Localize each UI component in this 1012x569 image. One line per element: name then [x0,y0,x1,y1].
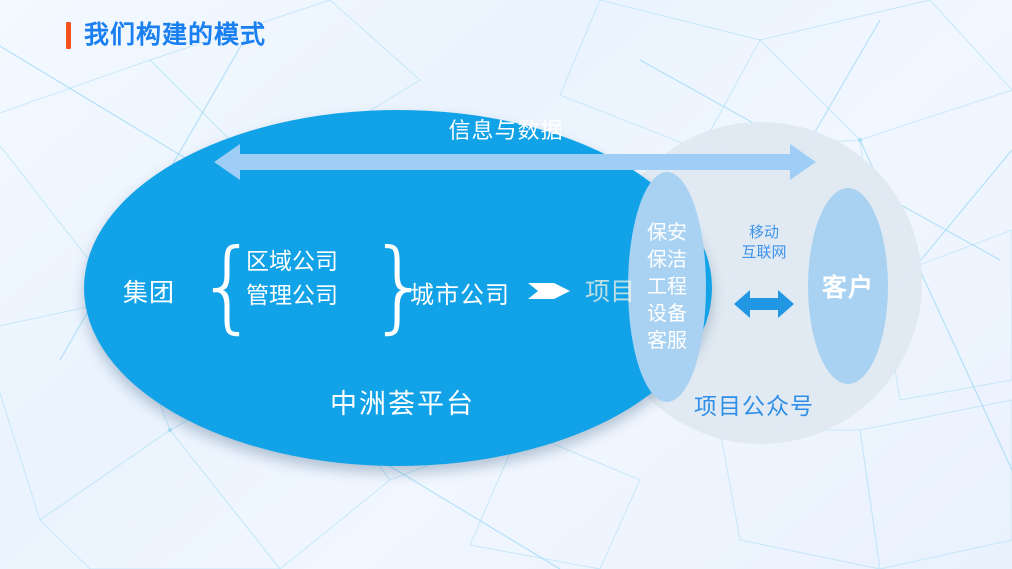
mobile-internet-double-arrow-icon [734,288,794,320]
title-text: 我们构建的模式 [84,23,266,48]
mobile-internet-label: 移动 互联网 [726,223,802,264]
customer-label: 客户 [822,268,874,304]
city-company-label: 城市公司 [410,275,510,310]
information-flow-arrow [214,143,816,181]
information-flow-label-wrap: 信息与数据 [0,113,1012,145]
service-item: 客服 [647,331,687,351]
service-item: 保安 [647,223,687,243]
information-flow-label: 信息与数据 [448,118,563,143]
service-item: 设备 [647,304,687,324]
customer-ellipse: 客户 [808,188,888,384]
service-item: 保洁 [647,250,687,270]
sub-unit-item: 区域公司 [246,250,338,273]
page-title: 我们构建的模式 [66,22,266,49]
project-ghost-label: 项目 [585,272,635,308]
sub-unit-list: 区域公司 管理公司 [246,250,338,307]
chevron-right-arrow-icon [528,277,570,305]
group-label: 集团 [123,273,175,309]
mobile-internet-line-2: 互联网 [726,243,802,263]
slide-canvas: 我们构建的模式 项目 信息与数据 集团 { 区域公司 管理公司 } 城市公司 中… [0,0,1012,569]
sub-unit-item: 管理公司 [246,284,338,307]
services-ellipse: 保安 保洁 工程 设备 客服 [628,172,706,402]
project-public-account-label: 项目公众号 [694,387,814,421]
mobile-internet-line-1: 移动 [726,223,802,243]
service-item: 工程 [647,277,687,297]
title-accent-bar [66,22,71,49]
platform-name-label: 中洲荟平台 [330,382,475,421]
